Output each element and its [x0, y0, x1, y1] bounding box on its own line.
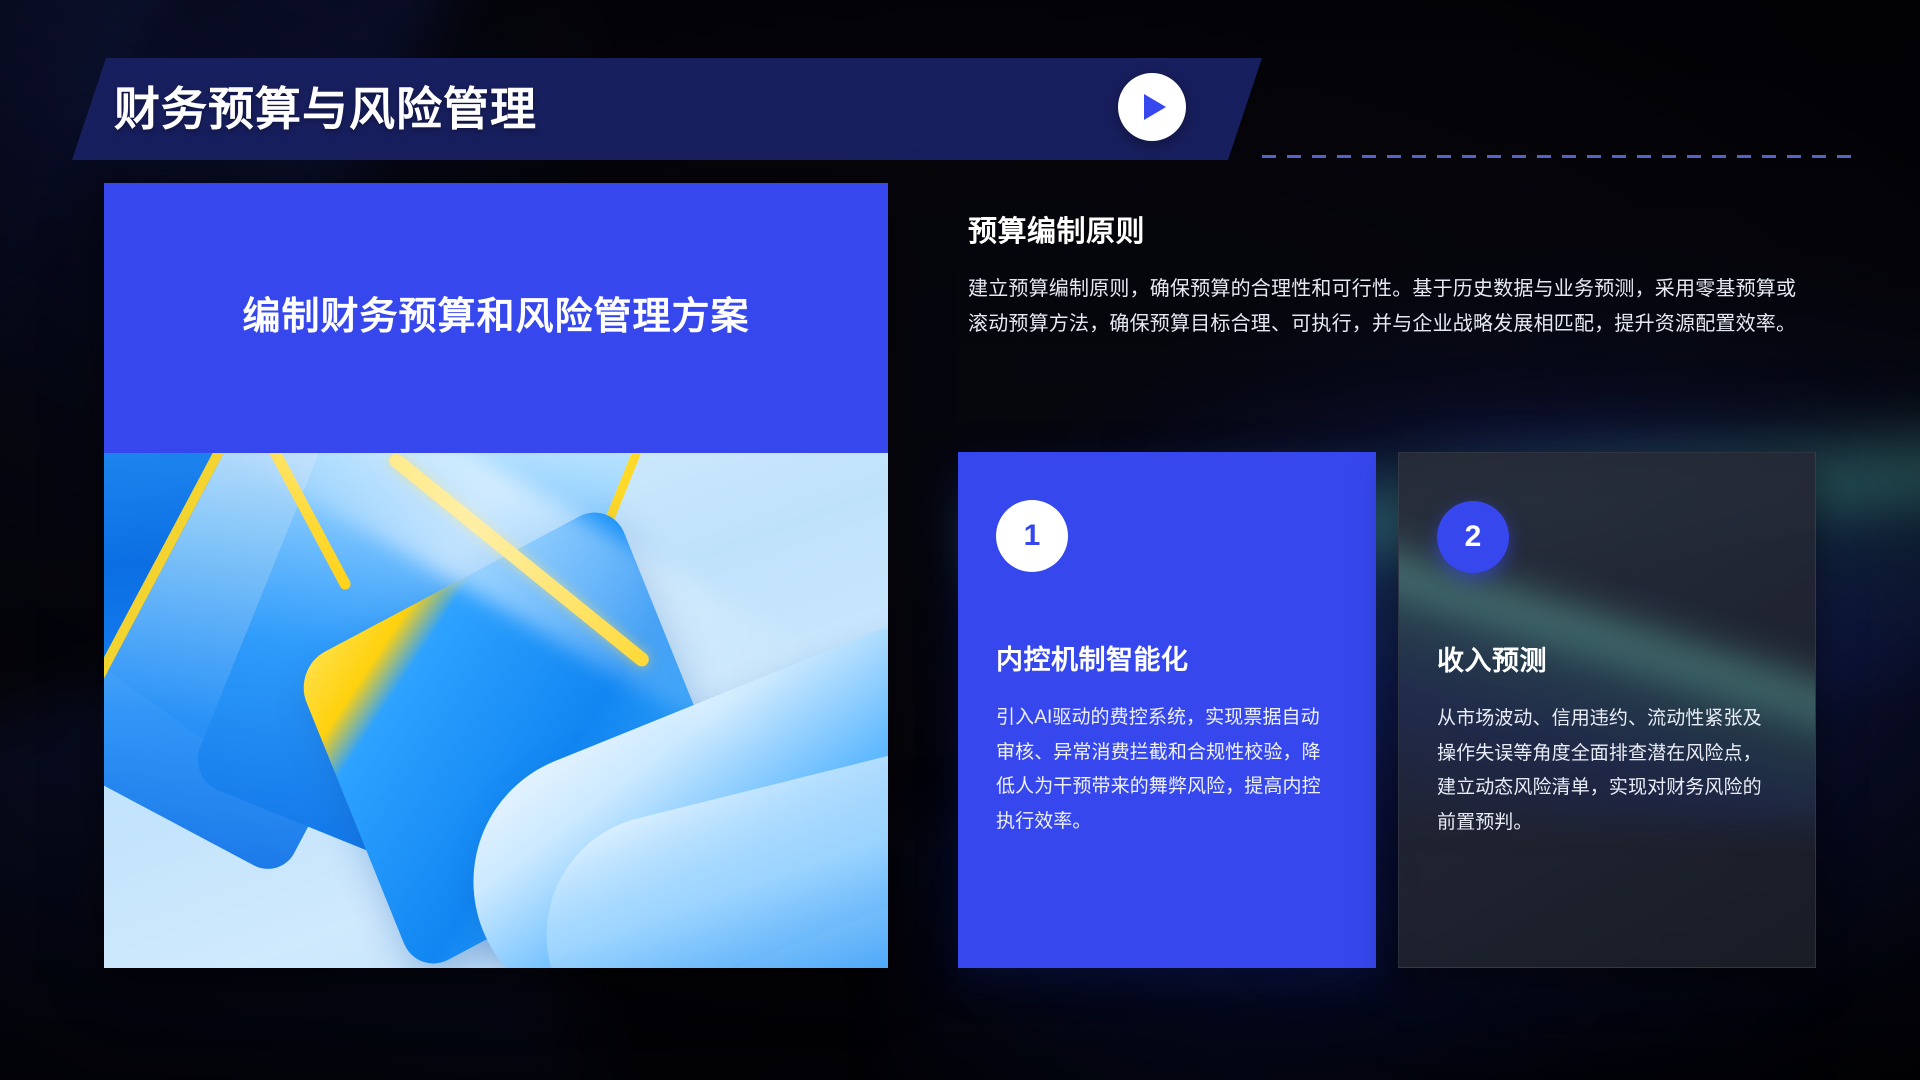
title-banner: 财务预算与风险管理 [72, 58, 1262, 160]
feature-card-list: 1 内控机制智能化 引入AI驱动的费控系统，实现票据自动审核、异常消费拦截和合规… [958, 452, 1818, 968]
media-headline: 编制财务预算和风险管理方案 [242, 295, 749, 341]
section-title: 预算编制原则 [968, 208, 1816, 250]
media-card: 编制财务预算和风险管理方案 [104, 183, 888, 968]
page-title: 财务预算与风险管理 [114, 86, 537, 132]
card-2-body: 从市场波动、信用违约、流动性紧张及操作失误等角度全面排查潜在风险点，建立动态风险… [1437, 702, 1777, 840]
card-1-body: 引入AI驱动的费控系统，实现票据自动审核、异常消费拦截和合规性校验，降低人为干预… [996, 701, 1338, 839]
section-body: 建立预算编制原则，确保预算的合理性和可行性。基于历史数据与业务预测，采用零基预算… [968, 272, 1808, 342]
dashed-divider [1262, 155, 1862, 158]
play-button[interactable] [1118, 73, 1186, 141]
card-1-number-badge: 1 [996, 500, 1068, 572]
card-2-number-badge: 2 [1437, 501, 1509, 573]
card-1-title: 内控机制智能化 [996, 638, 1338, 677]
feature-card-1[interactable]: 1 内控机制智能化 引入AI驱动的费控系统，实现票据自动审核、异常消费拦截和合规… [958, 452, 1376, 968]
play-icon [1144, 94, 1166, 120]
card-2-title: 收入预测 [1437, 639, 1777, 678]
feature-card-2[interactable]: 2 收入预测 从市场波动、信用违约、流动性紧张及操作失误等角度全面排查潜在风险点… [1398, 452, 1816, 968]
section-block: 预算编制原则 建立预算编制原则，确保预算的合理性和可行性。基于历史数据与业务预测… [968, 208, 1816, 342]
slide-canvas: 财务预算与风险管理 编制财务预算和风险管理方案 预算编制原则 建立预算编制原则，… [0, 0, 1920, 1080]
abstract-glass-image [104, 453, 888, 968]
media-card-header: 编制财务预算和风险管理方案 [104, 183, 888, 453]
